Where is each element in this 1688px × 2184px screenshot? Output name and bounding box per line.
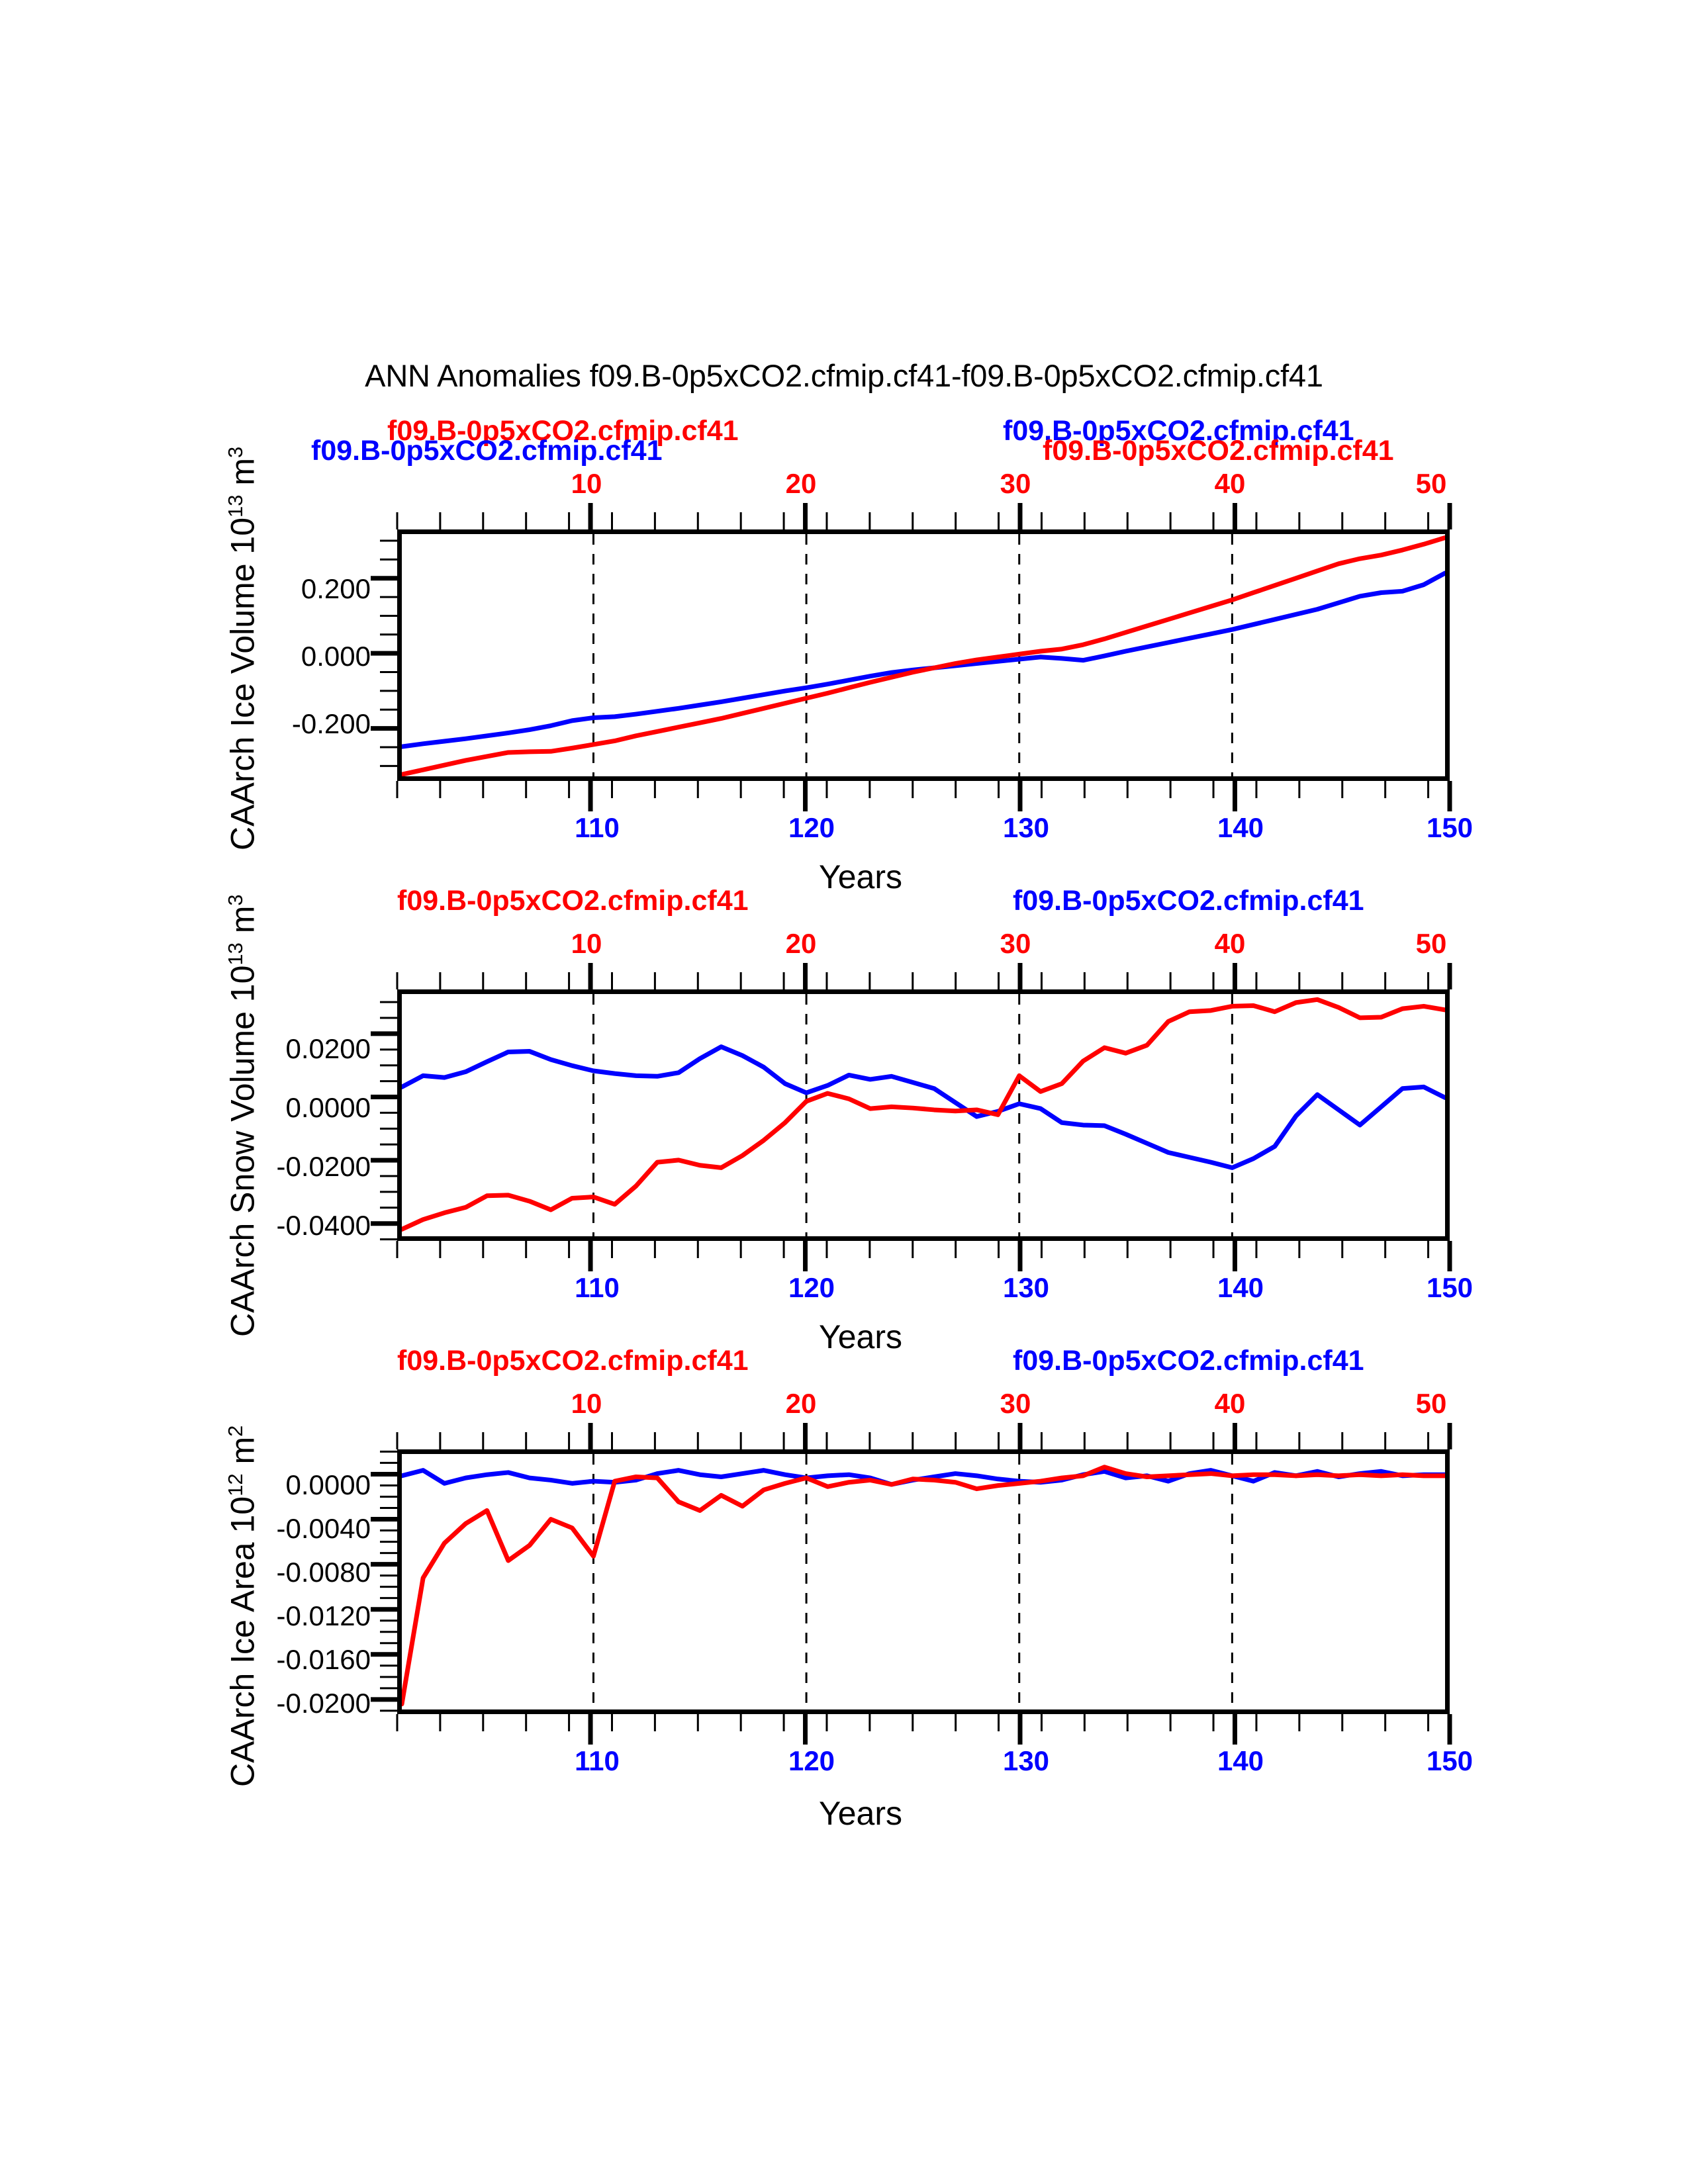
top-tick-p3-40: 40 xyxy=(1215,1390,1246,1418)
plot-curves-p2 xyxy=(402,994,1445,1236)
bottom-axis-labels-p3: 110 120 130 140 150 xyxy=(0,1747,1688,1780)
y-tick-p3-1: -0.0040 xyxy=(225,1515,371,1543)
bottom-tick-p3-140: 140 xyxy=(1217,1747,1264,1775)
y-tick-p1-1: 0.000 xyxy=(252,643,371,670)
y-axis-title-unit-p3: m xyxy=(224,1437,261,1474)
plot-curves-p3 xyxy=(402,1454,1445,1709)
case-label-red-p1-right: f09.B-0p5xCO2.cfmip.cf41 xyxy=(1043,437,1394,465)
plot-area-p3 xyxy=(397,1449,1450,1714)
bottom-tick-p2-120: 120 xyxy=(788,1274,835,1302)
case-label-blue-p3: f09.B-0p5xCO2.cfmip.cf41 xyxy=(1013,1347,1364,1375)
top-tick-20: 20 xyxy=(786,470,817,498)
bottom-tick-p2-150: 150 xyxy=(1427,1274,1473,1302)
y-tick-p2-3: -0.0400 xyxy=(225,1212,371,1240)
top-tick-p2-10: 10 xyxy=(571,930,602,958)
case-label-red-p2: f09.B-0p5xCO2.cfmip.cf41 xyxy=(397,887,749,915)
top-tick-p2-30: 30 xyxy=(1000,930,1031,958)
y-tick-p2-2: -0.0200 xyxy=(225,1153,371,1181)
top-tick-40: 40 xyxy=(1215,470,1246,498)
y-tick-p1-2: -0.200 xyxy=(238,710,371,738)
top-tick-p3-10: 10 xyxy=(571,1390,602,1418)
y-tick-p1-0: 0.200 xyxy=(252,575,371,603)
y-axis-title-text-p1: CAArch Ice Volume 10 xyxy=(224,518,261,850)
series-line xyxy=(402,573,1445,747)
series-line xyxy=(402,537,1445,774)
plot-area-p1 xyxy=(397,529,1450,781)
bottom-tick-120: 120 xyxy=(788,814,835,842)
y-axis-title-unit-p2: m xyxy=(224,906,261,943)
plot-curves-p1 xyxy=(402,534,1445,776)
bottom-tick-p2-140: 140 xyxy=(1217,1274,1264,1302)
top-tick-10: 10 xyxy=(571,470,602,498)
y-axis-title-exp-p2: 13 xyxy=(224,942,247,965)
series-line xyxy=(402,1467,1445,1704)
bottom-tick-130: 130 xyxy=(1003,814,1049,842)
top-axis-labels-p3: 10 20 30 40 50 xyxy=(0,1390,1688,1423)
bottom-tick-150: 150 xyxy=(1427,814,1473,842)
bottom-axis-labels-p2: 110 120 130 140 150 xyxy=(0,1274,1688,1307)
y-tick-p2-0: 0.0200 xyxy=(238,1035,371,1063)
y-axis-title-unit-exp-p3: 2 xyxy=(224,1426,247,1437)
bottom-tick-140: 140 xyxy=(1217,814,1264,842)
y-axis-title-unit-p1: m xyxy=(224,458,261,495)
figure-canvas: ANN Anomalies f09.B-0p5xCO2.cfmip.cf41-f… xyxy=(0,0,1688,2184)
y-axis-title-exp-p1: 13 xyxy=(224,494,247,517)
x-axis-title-p2: Years xyxy=(761,1320,960,1353)
top-tick-p2-50: 50 xyxy=(1416,930,1447,958)
y-axis-title-unit-exp-p1: 3 xyxy=(224,447,247,458)
y-tick-p3-2: -0.0080 xyxy=(225,1559,371,1586)
page-title: ANN Anomalies f09.B-0p5xCO2.cfmip.cf41-f… xyxy=(0,357,1688,394)
top-tick-p3-50: 50 xyxy=(1416,1390,1447,1418)
top-tick-p3-30: 30 xyxy=(1000,1390,1031,1418)
y-tick-p3-4: -0.0160 xyxy=(225,1646,371,1674)
bottom-tick-p2-110: 110 xyxy=(575,1274,620,1302)
y-axis-title-unit-exp-p2: 3 xyxy=(224,894,247,905)
case-label-blue-p1-left: f09.B-0p5xCO2.cfmip.cf41 xyxy=(311,437,663,465)
bottom-tick-p3-120: 120 xyxy=(788,1747,835,1775)
bottom-tick-p3-130: 130 xyxy=(1003,1747,1049,1775)
y-tick-p2-1: 0.0000 xyxy=(238,1094,371,1122)
top-tick-30: 30 xyxy=(1000,470,1031,498)
bottom-axis-labels-p1: 110 120 130 140 150 xyxy=(0,814,1688,847)
bottom-tick-p2-130: 130 xyxy=(1003,1274,1049,1302)
bottom-tick-p3-150: 150 xyxy=(1427,1747,1473,1775)
top-tick-50: 50 xyxy=(1416,470,1447,498)
top-tick-p2-40: 40 xyxy=(1215,930,1246,958)
x-axis-title-p1: Years xyxy=(761,860,960,893)
series-line xyxy=(402,999,1445,1229)
bottom-tick-110: 110 xyxy=(575,814,620,842)
plot-area-p2 xyxy=(397,989,1450,1241)
top-tick-p3-20: 20 xyxy=(786,1390,817,1418)
case-label-red-p3: f09.B-0p5xCO2.cfmip.cf41 xyxy=(397,1347,749,1375)
top-tick-p2-20: 20 xyxy=(786,930,817,958)
y-tick-p3-5: -0.0200 xyxy=(225,1690,371,1717)
y-tick-p3-0: 0.0000 xyxy=(238,1471,371,1499)
x-axis-title-p3: Years xyxy=(761,1797,960,1830)
y-tick-p3-3: -0.0120 xyxy=(225,1602,371,1630)
case-label-blue-p2: f09.B-0p5xCO2.cfmip.cf41 xyxy=(1013,887,1364,915)
bottom-tick-p3-110: 110 xyxy=(575,1747,620,1775)
